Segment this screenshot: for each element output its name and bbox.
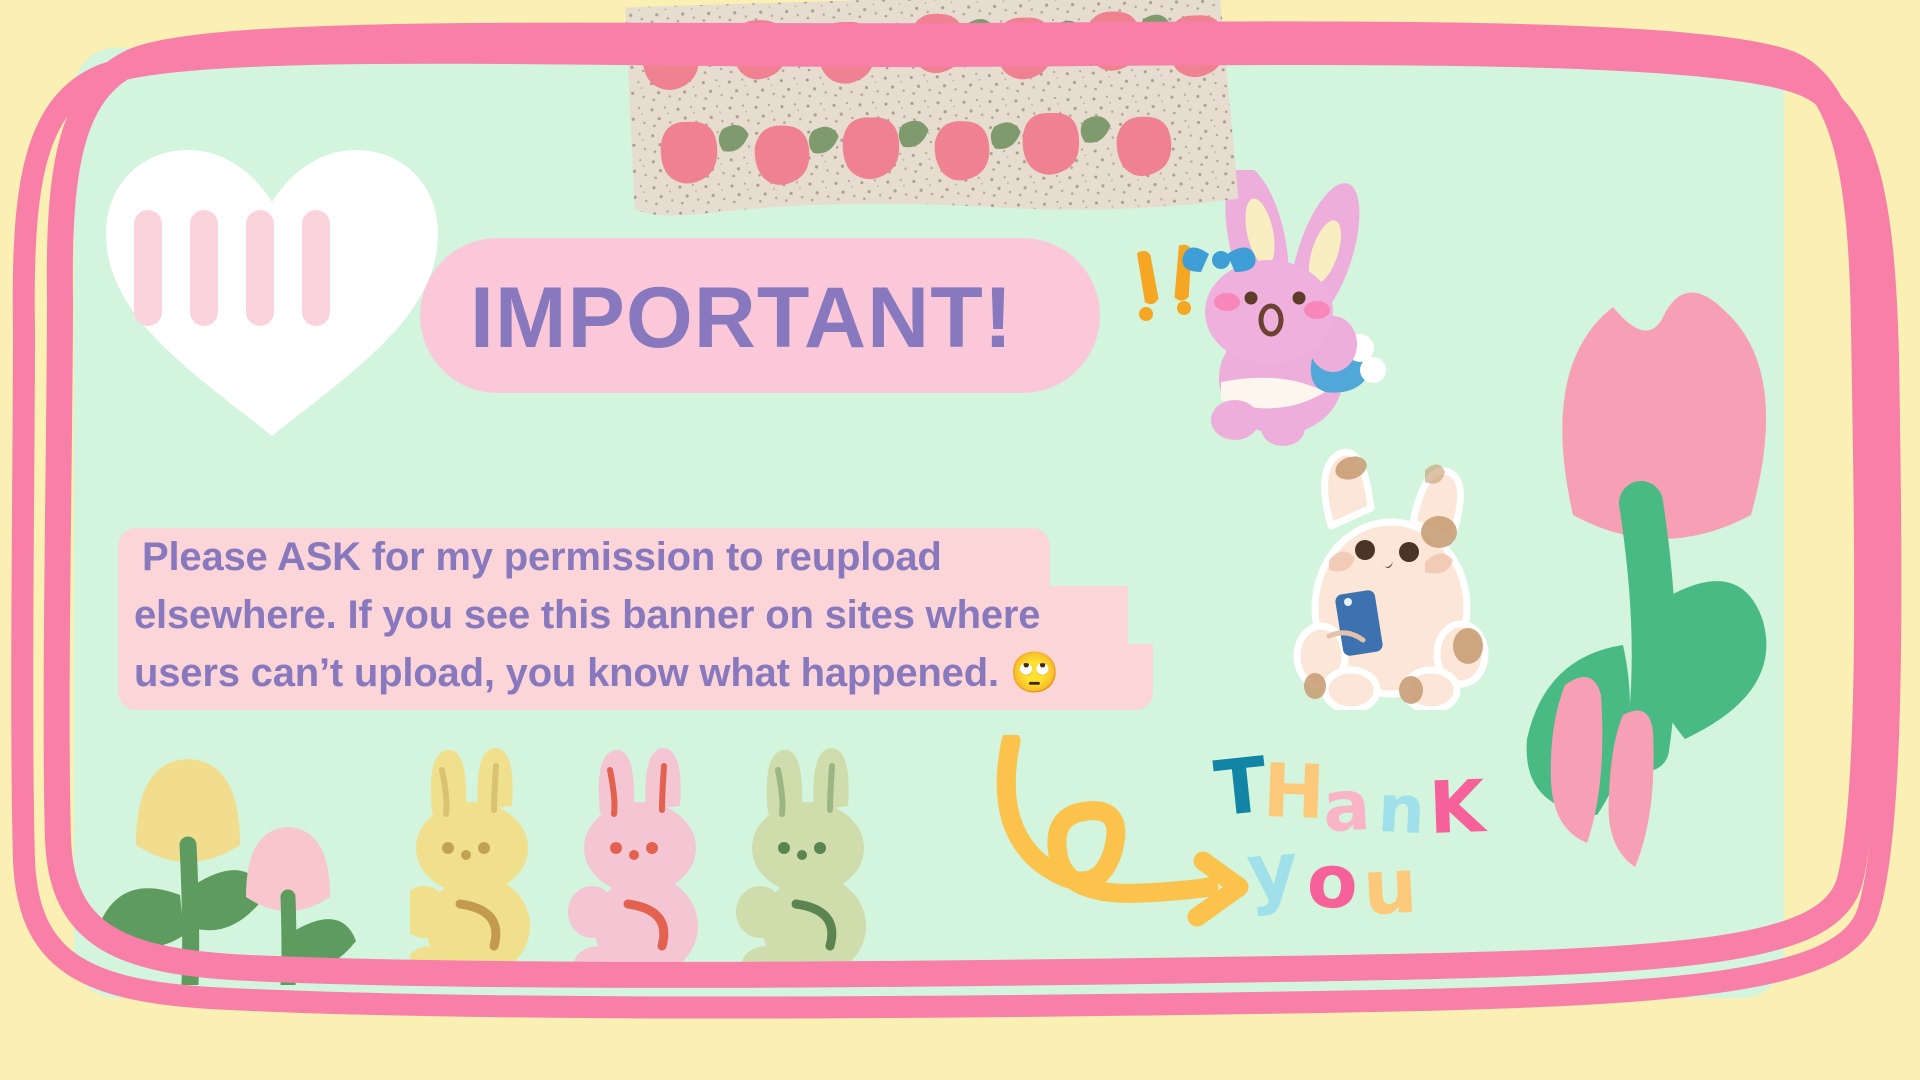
message-line-2: elsewhere. If you see this banner on sit… [118, 586, 1178, 644]
permission-message: Please ASK for my permission to reupload… [118, 528, 1178, 702]
thank-you-letter: a [1321, 770, 1372, 842]
washi-tape-decoration [619, 0, 1244, 224]
thank-you-letter: o [1306, 844, 1359, 920]
small-tulip-pair [88, 735, 388, 985]
thank-you-letter: y [1244, 831, 1300, 912]
thank-you-letter: H [1262, 754, 1326, 830]
white-heart-with-exclamations [100, 140, 445, 440]
gummy-bunny-trio [410, 740, 910, 980]
message-line-3: users can’t upload, you know what happen… [118, 644, 1178, 702]
thank-you-letter: K [1428, 770, 1486, 844]
thank-you-letter: n [1376, 776, 1426, 844]
cream-bunny-with-phone-sticker [1285, 440, 1500, 710]
message-line-1: Please ASK for my permission to reupload [118, 528, 1178, 586]
page-title: IMPORTANT! [470, 258, 1090, 378]
banner-canvas: IMPORTANT! [0, 0, 1920, 1080]
pink-bunny-sticker [1165, 170, 1415, 460]
thank-you-letter: u [1361, 848, 1419, 927]
thank-you-lettering: THanKyou [1215, 745, 1515, 945]
